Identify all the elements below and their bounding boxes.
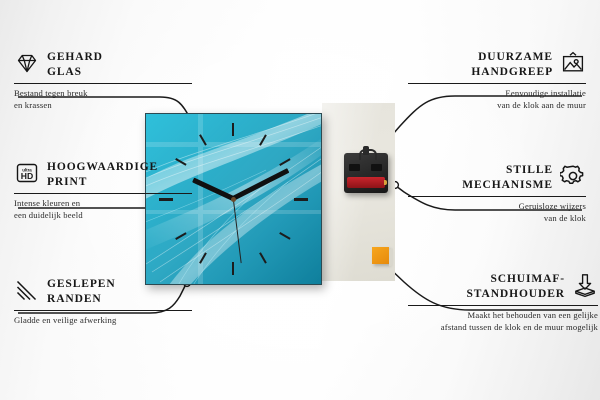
feature-gehard-glas: GEHARD GLAS Bestand tegen breuk en krass… [14, 50, 192, 112]
feature-subtitle-line1: Maakt het behouden van een gelijke [408, 310, 598, 322]
gear-icon [560, 163, 586, 189]
feature-title: GESLEPEN RANDEN [47, 277, 116, 307]
mechanism-slot-right [371, 164, 382, 171]
feature-subtitle-line1: Geruisloze wijzers [408, 201, 586, 213]
clock-mechanism [344, 153, 388, 193]
clock-tick-3 [294, 198, 308, 201]
feature-header: GESLEPEN RANDEN [14, 277, 192, 307]
svg-text:HD: HD [21, 171, 33, 181]
feature-duurzame-handgreep: DUURZAME HANDGREEP Eenvoudige installati… [408, 50, 586, 112]
clock-tick-6 [232, 262, 234, 275]
diamond-icon [14, 50, 40, 76]
feature-divider [14, 193, 192, 194]
feature-subtitle-line1: Gladde en veilige afwerking [14, 315, 192, 327]
feature-divider [14, 310, 192, 311]
feature-header: SCHUIMAF- STANDHOUDER [408, 272, 598, 302]
mechanism-slot-left [349, 164, 360, 171]
clock-tick-12 [232, 123, 234, 136]
feature-header: STILLE MECHANISME [408, 163, 586, 193]
mechanism-shaft [363, 146, 369, 155]
feature-title: GEHARD GLAS [47, 50, 103, 80]
feature-subtitle-line2: een duidelijk beeld [14, 210, 192, 222]
feature-subtitle-line2: en krassen [14, 100, 192, 112]
feature-geslepen-randen: GESLEPEN RANDEN Gladde en veilige afwerk… [14, 277, 192, 327]
feature-header: ultra HD HOOGWAARDIGE PRINT [14, 160, 192, 190]
feature-divider [408, 83, 586, 84]
feature-stille-mechanisme: STILLE MECHANISME Geruisloze wijzers van… [408, 163, 586, 225]
infographic-stage: GEHARD GLAS Bestand tegen breuk en krass… [0, 0, 600, 400]
feature-schuimafstandhouder: SCHUIMAF- STANDHOUDER Maakt het behouden… [408, 272, 598, 334]
feature-title: SCHUIMAF- STANDHOUDER [466, 272, 565, 302]
picture-frame-icon [560, 50, 586, 76]
feature-title: DUURZAME HANDGREEP [471, 50, 553, 80]
feature-subtitle-line1: Eenvoudige installatie [408, 88, 586, 100]
feature-divider [408, 305, 598, 306]
feature-header: DUURZAME HANDGREEP [408, 50, 586, 80]
ultra-hd-icon: ultra HD [14, 160, 40, 186]
spacer-arrow-icon [572, 272, 598, 298]
feature-divider [408, 196, 586, 197]
feature-subtitle-line1: Intense kleuren en [14, 198, 192, 210]
feature-subtitle-line2: van de klok [408, 213, 586, 225]
foam-spacer [372, 247, 389, 264]
feature-subtitle-line2: afstand tussen de klok en de muur mogeli… [408, 322, 598, 334]
feature-subtitle-line2: van de klok aan de muur [408, 100, 586, 112]
beveled-edges-icon [14, 277, 40, 303]
feature-header: GEHARD GLAS [14, 50, 192, 80]
feature-divider [14, 83, 192, 84]
feature-subtitle-line1: Bestand tegen breuk [14, 88, 192, 100]
battery [347, 177, 385, 188]
feature-title: STILLE MECHANISME [462, 163, 553, 193]
feature-hoogwaardige-print: ultra HD HOOGWAARDIGE PRINT Intense kleu… [14, 160, 192, 222]
feature-title: HOOGWAARDIGE PRINT [47, 160, 158, 190]
clock-center-hub [231, 197, 236, 202]
